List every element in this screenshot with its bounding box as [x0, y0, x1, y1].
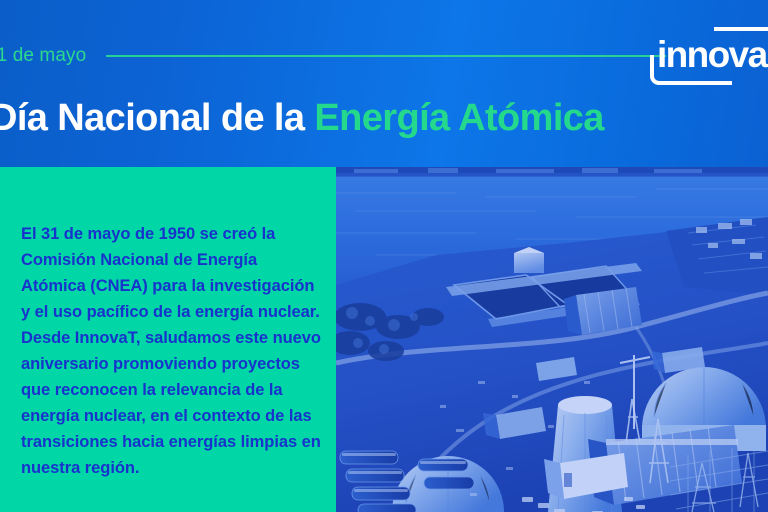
body-section: El 31 de mayo de 1950 se creó la Comisió… [0, 167, 768, 512]
page-title-accent: Energía Atómica [314, 97, 603, 139]
body-paragraph: El 31 de mayo de 1950 se creó la Comisió… [21, 221, 321, 481]
header-banner: 31 de mayo innova Día Nacional de la Ene… [0, 0, 768, 167]
text-panel: El 31 de mayo de 1950 se creó la Comisió… [0, 167, 336, 512]
page-title: Día Nacional de la Energía Atómica [0, 96, 768, 140]
innova-logo[interactable]: innova [650, 27, 768, 85]
date-eyebrow: 31 de mayo [0, 45, 86, 67]
logo-wordmark: innova [657, 35, 767, 75]
horizontal-rule-divider [106, 55, 666, 57]
photo-artwork [336, 167, 768, 512]
eyebrow-row: 31 de mayo [0, 42, 666, 70]
poster: 31 de mayo innova Día Nacional de la Ene… [0, 0, 768, 512]
page-title-main: Día Nacional de la [0, 97, 314, 139]
nuclear-plant-photo [336, 167, 768, 512]
